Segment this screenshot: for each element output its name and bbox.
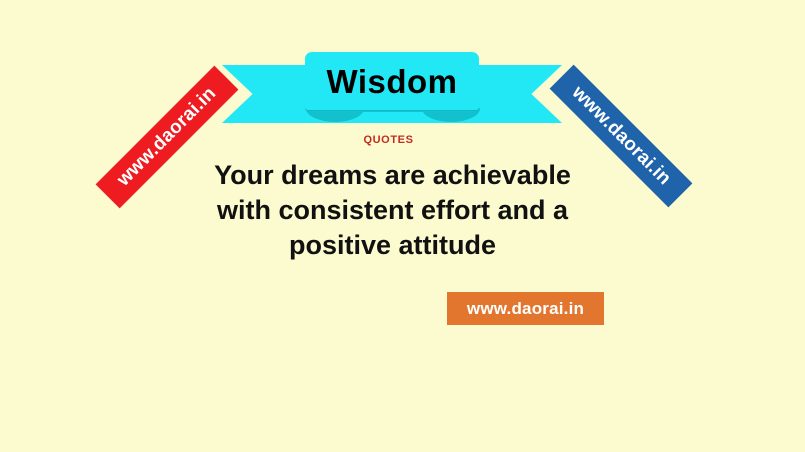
title-banner: Wisdom (222, 52, 562, 124)
poster-canvas: www.daorai.in www.daorai.in Wisdom QUOTE… (0, 0, 805, 452)
quote-category-label-text: QUOTES (363, 134, 413, 146)
quote-line-3: positive attitude (120, 228, 665, 263)
banner-title-plate: Wisdom (305, 52, 479, 110)
quote-line-1: Your dreams are achievable (120, 158, 665, 193)
quote-text-block: Your dreams are achievable with consiste… (120, 158, 665, 263)
quote-category-label: QUOTES (0, 134, 805, 146)
banner-title-text: Wisdom (326, 65, 457, 98)
quote-line-2: with consistent effort and a (120, 193, 665, 228)
website-badge: www.daorai.in (447, 292, 604, 325)
website-badge-text: www.daorai.in (467, 299, 584, 319)
